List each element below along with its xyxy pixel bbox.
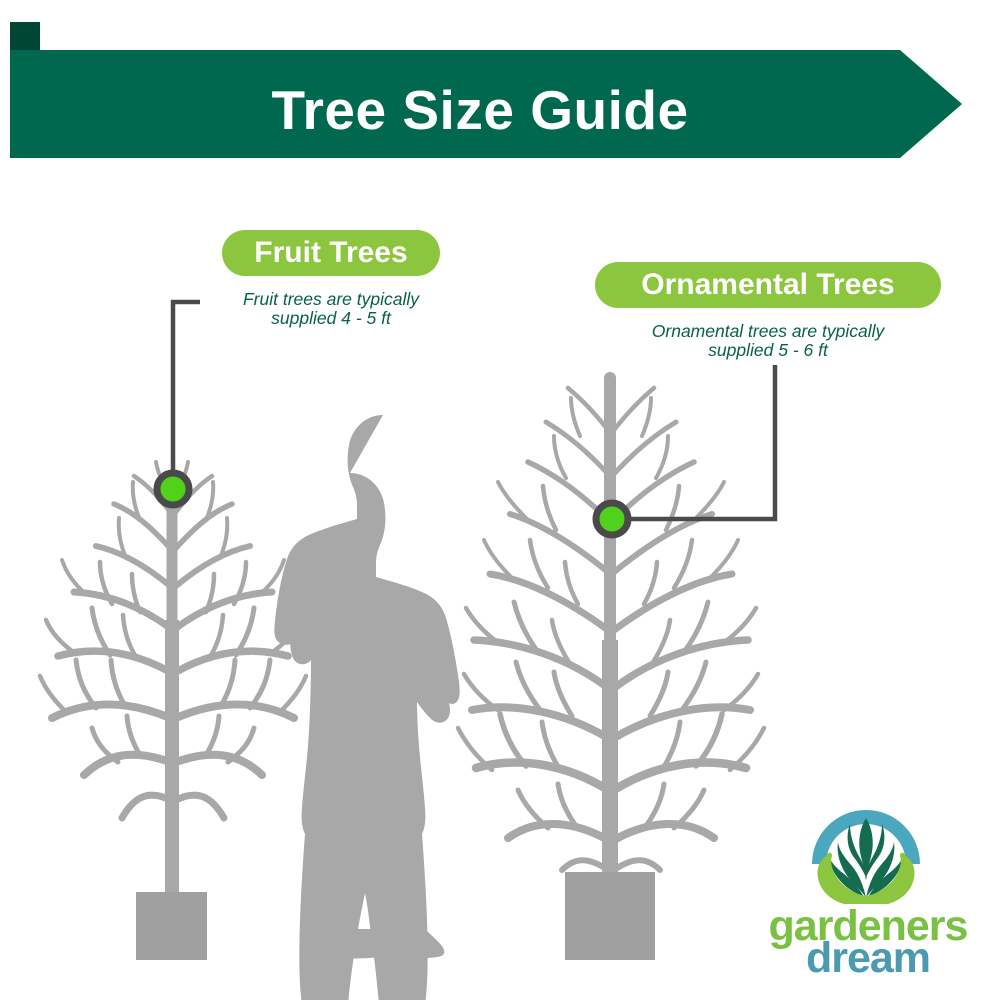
person-silhouette [274,415,459,1000]
tree-size-guide-infographic: Tree Size Guide [0,0,1000,1000]
plant-pot-icon [565,872,655,960]
caption-ornamental-trees: Ornamental trees are typically supplied … [572,322,964,360]
logo-word-dream: dream [748,934,988,983]
caption-fruit-trees: Fruit trees are typically supplied 4 - 5… [200,290,462,328]
label-ornamental-trees: Ornamental Trees [595,262,941,308]
bare-tree-icon [458,378,764,910]
bare-tree-icon [40,462,306,905]
brand-logo: gardeners dream [748,802,988,974]
plant-pot-icon [136,892,207,960]
gardenersdream-logo-icon [802,802,930,906]
label-fruit-trees: Fruit Trees [222,230,440,276]
